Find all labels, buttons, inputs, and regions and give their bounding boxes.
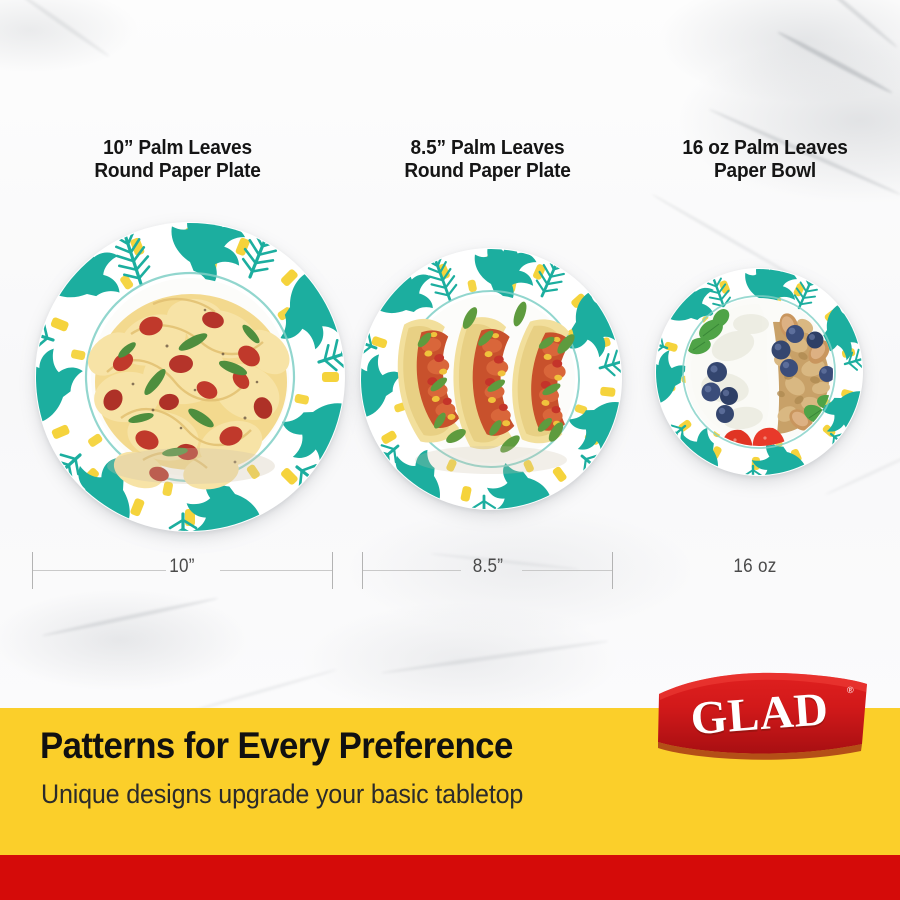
dimension-label-2: 8.5” xyxy=(452,556,524,578)
dim-line-1-left xyxy=(33,570,166,571)
product-image-1 xyxy=(35,222,345,532)
product-title-2-line2: Round Paper Plate xyxy=(355,159,620,182)
product-title-1-line1: 10” Palm Leaves xyxy=(45,136,310,159)
dimension-rules: 10” 8.5” 16 oz xyxy=(0,548,900,598)
product-title-3-line1: 16 oz Palm Leaves xyxy=(630,136,900,159)
dim-cap-2-right xyxy=(612,552,613,589)
product-image-3 xyxy=(655,268,863,476)
product-title-1-line2: Round Paper Plate xyxy=(45,159,310,182)
product-title-3: 16 oz Palm Leaves Paper Bowl xyxy=(630,136,900,182)
promo-headline: Patterns for Every Preference xyxy=(40,726,623,766)
plate-1-pattern xyxy=(35,222,345,532)
dim-cap-1-right xyxy=(332,552,333,589)
dim-line-2-right xyxy=(522,570,612,571)
paper-plate-10in xyxy=(35,222,345,532)
product-image-2 xyxy=(360,248,622,510)
registered-trademark-icon: ® xyxy=(847,685,854,695)
glad-wordmark: GLAD xyxy=(652,660,873,767)
glad-logo: GLAD ® xyxy=(655,668,870,760)
product-title-2: 8.5” Palm Leaves Round Paper Plate xyxy=(355,136,620,182)
paper-plate-85in xyxy=(360,248,622,510)
dim-line-1-right xyxy=(220,570,332,571)
dim-line-2-left xyxy=(363,570,461,571)
plate-2-pattern xyxy=(360,248,622,510)
product-title-1: 10” Palm Leaves Round Paper Plate xyxy=(45,136,310,182)
dimension-label-1: 10” xyxy=(150,556,215,578)
product-title-2-line1: 8.5” Palm Leaves xyxy=(355,136,620,159)
dimension-label-3: 16 oz xyxy=(710,556,800,578)
promo-subline: Unique designs upgrade your basic tablet… xyxy=(41,779,655,810)
product-feature-image: 10” Palm Leaves Round Paper Plate 8.5” P… xyxy=(0,0,900,900)
bowl-3-pattern xyxy=(655,268,863,476)
paper-bowl-16oz xyxy=(655,268,863,476)
footer-bar xyxy=(0,855,900,900)
product-title-3-line2: Paper Bowl xyxy=(630,159,900,182)
product-titles: 10” Palm Leaves Round Paper Plate 8.5” P… xyxy=(0,136,900,192)
